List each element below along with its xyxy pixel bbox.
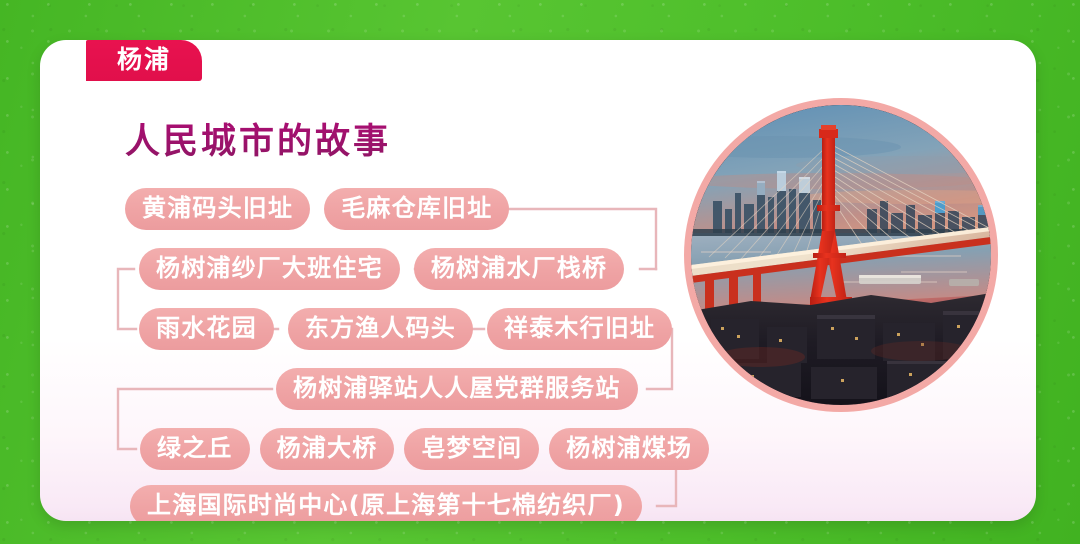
site-pill[interactable]: 上海国际时尚中心(原上海第十七棉纺织厂): [130, 485, 642, 521]
yangpu-bridge-photo: [684, 98, 998, 412]
flow-row: 雨水花园 东方渔人码头 祥泰木行旧址: [139, 308, 672, 350]
site-pill[interactable]: 杨树浦驿站人人屋党群服务站: [276, 368, 638, 410]
flow-row: 上海国际时尚中心(原上海第十七棉纺织厂): [130, 485, 642, 521]
site-pill[interactable]: 绿之丘: [140, 428, 250, 470]
flow-row: 黄浦码头旧址 毛麻仓库旧址: [125, 188, 509, 230]
district-badge: 杨浦: [86, 40, 202, 81]
site-pill[interactable]: 杨树浦水厂栈桥: [414, 248, 624, 290]
photo-image: [691, 105, 991, 405]
site-pill[interactable]: 雨水花园: [139, 308, 274, 350]
site-pill[interactable]: 杨树浦煤场: [549, 428, 709, 470]
site-pill[interactable]: 杨树浦纱厂大班住宅: [139, 248, 400, 290]
district-badge-label: 杨浦: [117, 47, 171, 74]
content-card: 杨浦 人民城市的故事: [40, 40, 1036, 521]
site-pill[interactable]: 黄浦码头旧址: [125, 188, 310, 230]
flow-row: 杨树浦驿站人人屋党群服务站: [276, 368, 638, 410]
flow-row: 杨树浦纱厂大班住宅 杨树浦水厂栈桥: [139, 248, 624, 290]
site-pill[interactable]: 东方渔人码头: [288, 308, 473, 350]
site-pill[interactable]: 杨浦大桥: [260, 428, 395, 470]
flow-row: 绿之丘 杨浦大桥 皂梦空间 杨树浦煤场: [140, 428, 709, 470]
site-pill[interactable]: 毛麻仓库旧址: [324, 188, 509, 230]
site-pill[interactable]: 祥泰木行旧址: [487, 308, 672, 350]
site-pill[interactable]: 皂梦空间: [404, 428, 539, 470]
